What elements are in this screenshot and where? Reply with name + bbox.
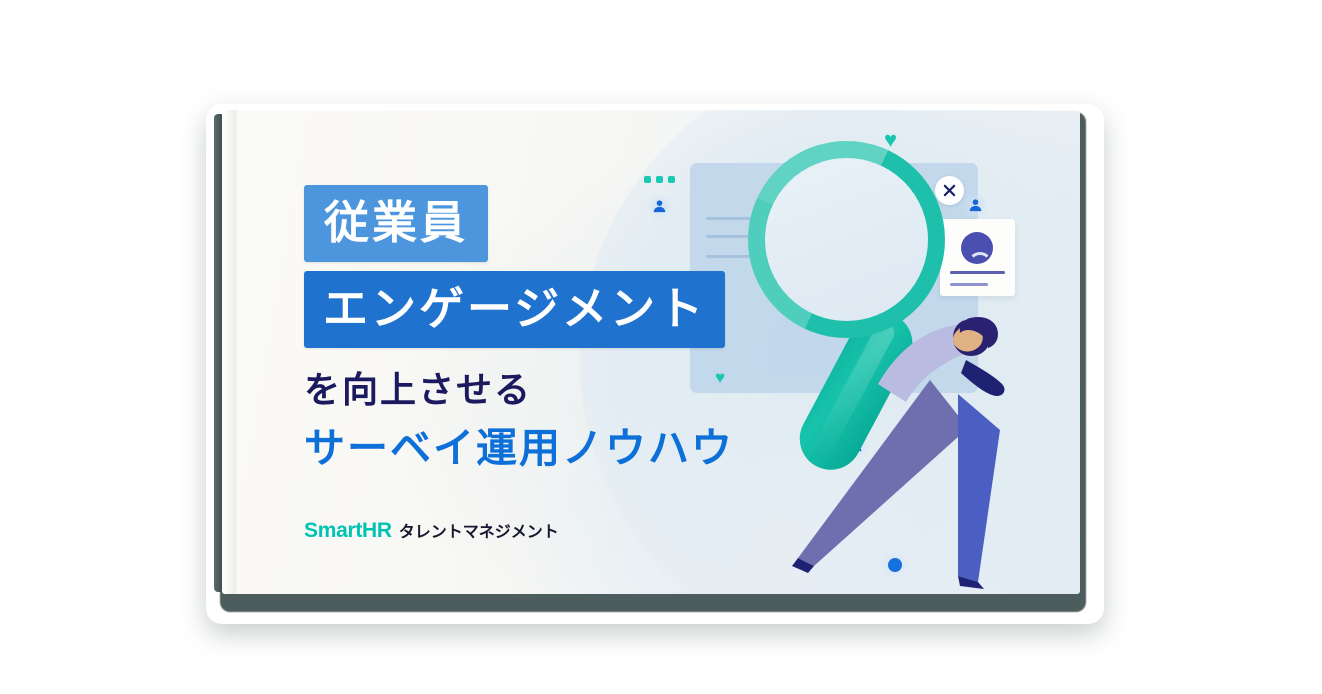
logo-product-text: タレントマネジメント	[399, 518, 559, 542]
cover-headline: 従業員 エンゲージメント を向上させる サーベイ運用ノウハウ	[304, 185, 774, 471]
close-icon	[943, 184, 956, 197]
screenshot-canvas: ♥ ♥	[0, 0, 1322, 694]
book-spine-highlight	[222, 110, 237, 594]
person-icon	[968, 198, 983, 213]
avatar-chip-right	[962, 192, 989, 219]
headline-line-4: サーベイ運用ノウハウ	[304, 426, 774, 471]
three-dots-icon	[644, 176, 675, 183]
smarthr-logo: SmartHR タレントマネジメント	[304, 518, 559, 543]
headline-tag-engagement: エンゲージメント	[304, 271, 725, 348]
negative-response-card	[940, 219, 1015, 296]
logo-brand-text: SmartHR	[304, 519, 392, 543]
headline-tag-employee: 従業員	[304, 185, 488, 262]
magnifier-ring	[748, 141, 945, 338]
sad-face-icon	[961, 232, 993, 264]
ebook-cover[interactable]: ♥ ♥	[222, 110, 1080, 594]
close-badge[interactable]	[935, 176, 964, 205]
headline-line-3: を向上させる	[304, 370, 774, 410]
